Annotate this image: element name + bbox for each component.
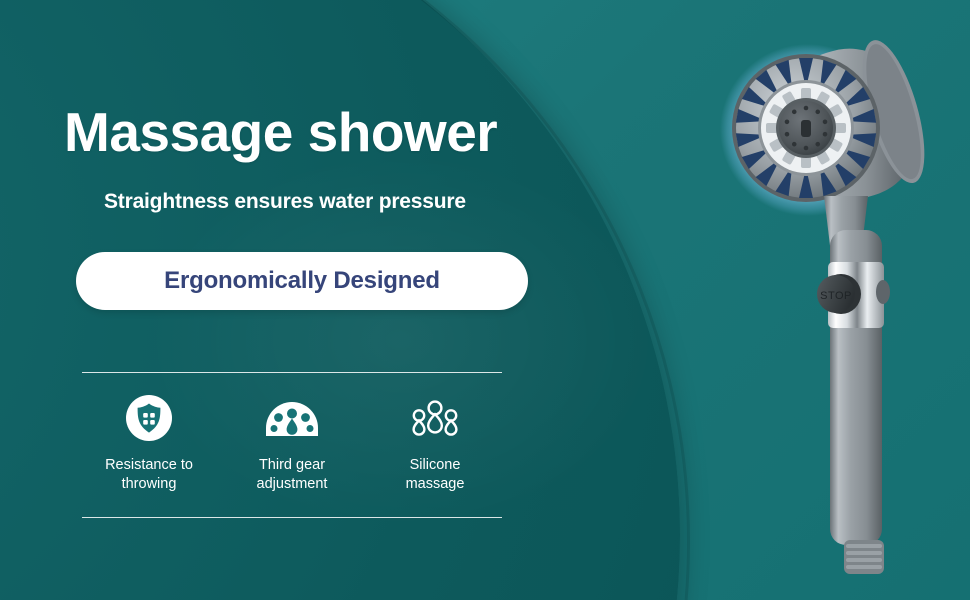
divider-top (82, 372, 502, 373)
feature-label-line1: Silicone (406, 456, 465, 475)
feature-list: Resistance to throwing (82, 392, 502, 510)
feature-label-line2: massage (406, 475, 465, 494)
page-subtitle: Straightness ensures water pressure (104, 190, 466, 214)
feature-label-third-gear: Third gear adjustment (257, 456, 328, 494)
feature-label-resistance: Resistance to throwing (105, 456, 193, 494)
silicone-nozzles-icon (407, 392, 463, 444)
feature-item-third-gear: Third gear adjustment (225, 392, 359, 494)
text-content-column: Massage shower Straightness ensures wate… (0, 0, 560, 600)
product-image: STOP (700, 0, 970, 600)
feature-label-line2: adjustment (257, 475, 328, 494)
shield-dots-icon (125, 392, 173, 444)
shower-head-illustration: STOP (700, 0, 970, 600)
center-slot (801, 120, 811, 137)
feature-label-line1: Resistance to (105, 456, 193, 475)
page-title: Massage shower (64, 104, 497, 162)
feature-item-resistance: Resistance to throwing (82, 392, 216, 494)
feature-label-silicone: Silicone massage (406, 456, 465, 494)
feature-label-line2: throwing (105, 475, 193, 494)
divider-bottom (82, 517, 502, 518)
stop-button[interactable]: STOP (817, 274, 861, 314)
gear-dome-icon (264, 392, 320, 444)
feature-label-line1: Third gear (257, 456, 328, 475)
hose-connector (844, 540, 884, 574)
stop-button-label: STOP (820, 290, 852, 302)
ergonomic-badge-label: Ergonomically Designed (164, 267, 440, 295)
mode-button[interactable] (876, 280, 890, 304)
ergonomic-badge[interactable]: Ergonomically Designed (76, 252, 528, 310)
shower-head-face (732, 54, 880, 202)
product-banner: Massage shower Straightness ensures wate… (0, 0, 970, 600)
feature-item-silicone: Silicone massage (368, 392, 502, 494)
